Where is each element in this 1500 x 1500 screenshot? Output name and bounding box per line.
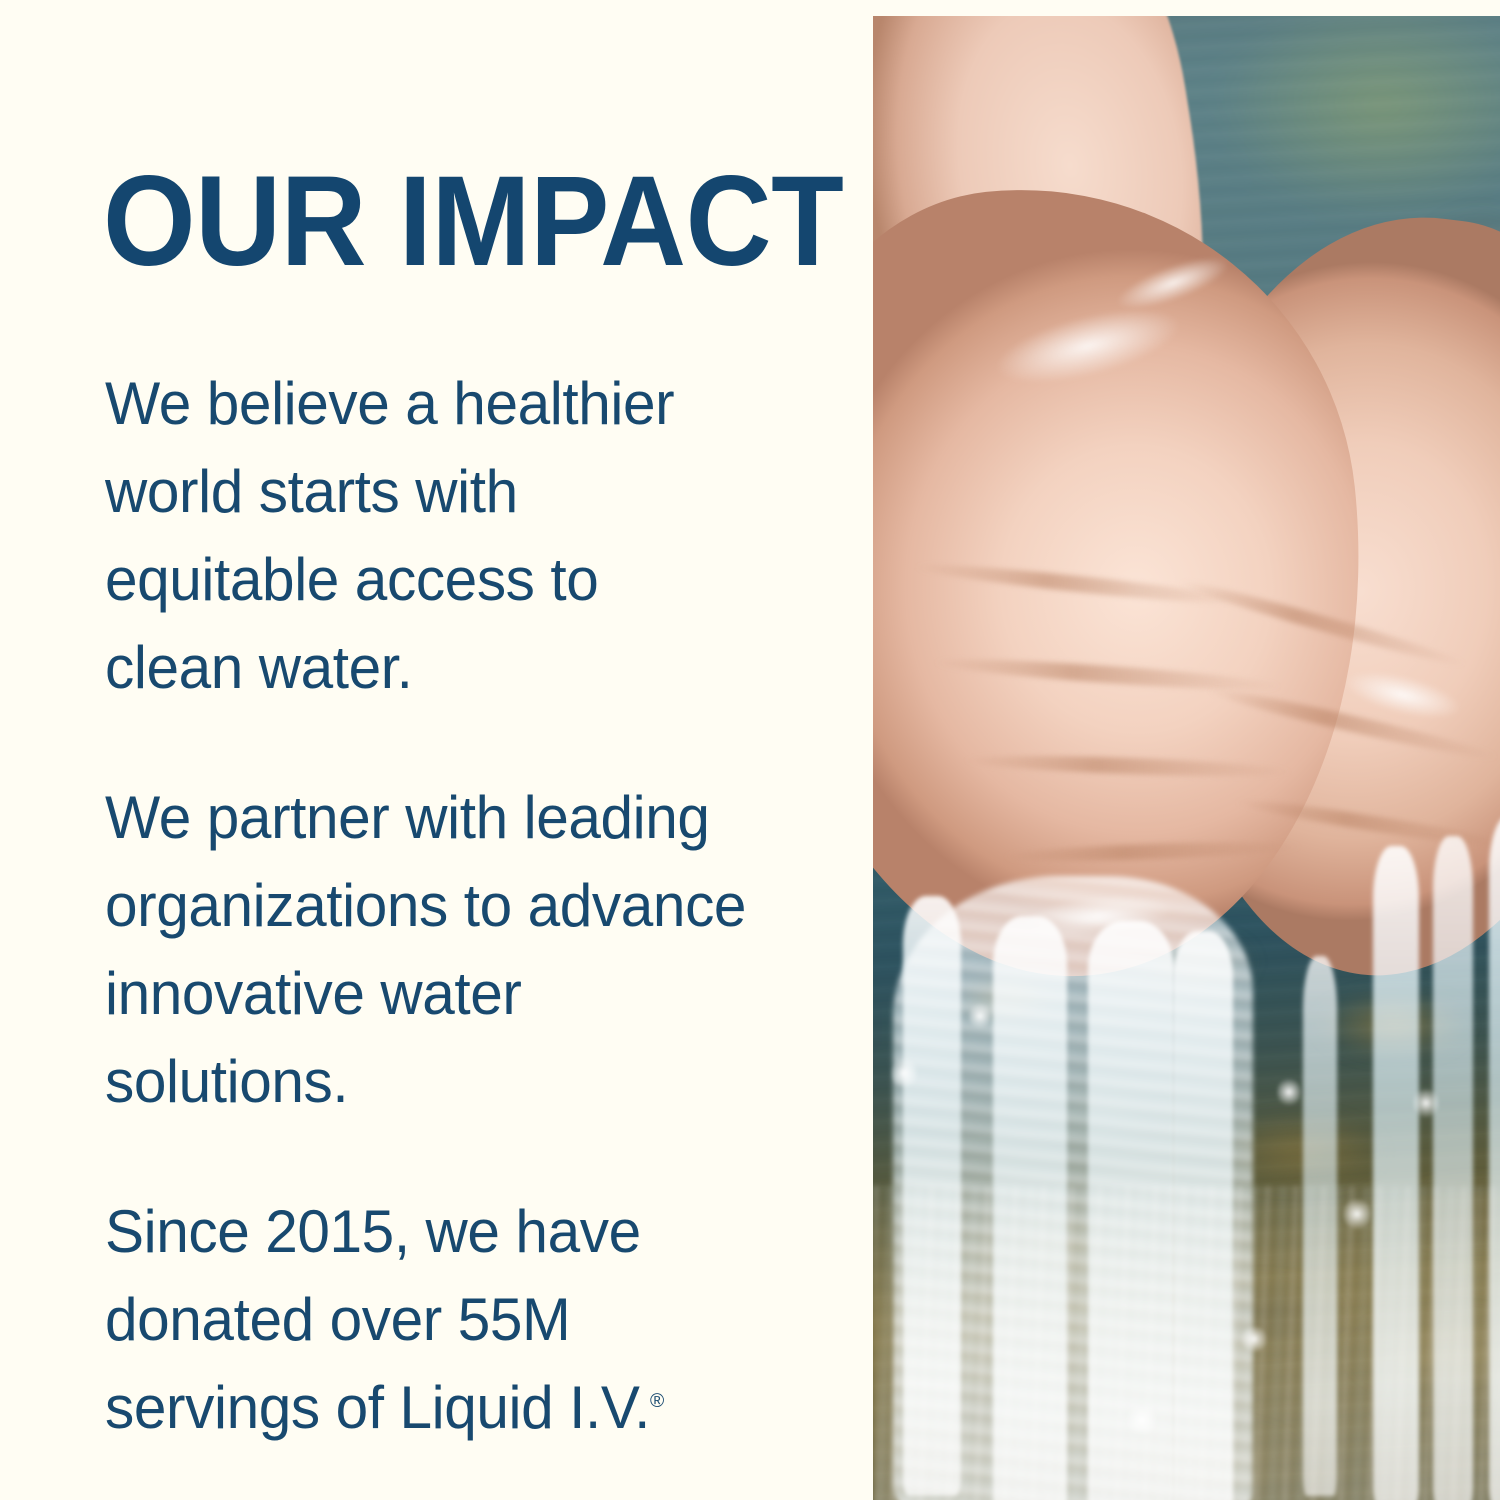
paragraph-partnership: We partner with leading organizations to…: [105, 774, 749, 1126]
photo-water-droplet: [1277, 1076, 1301, 1108]
body-copy: We believe a healthier world starts with…: [105, 360, 765, 1452]
photo-water-droplet: [1413, 1086, 1439, 1120]
impact-promo-canvas: OUR IMPACT We believe a healthier world …: [0, 0, 1500, 1500]
donations-sentence: Since 2015, we have donated over 55M ser…: [105, 1198, 650, 1441]
paragraph-donations: Since 2015, we have donated over 55M ser…: [105, 1188, 749, 1452]
photo-water-droplet: [969, 1001, 991, 1031]
paragraph-belief: We believe a healthier world starts with…: [105, 360, 749, 712]
text-panel: OUR IMPACT We believe a healthier world …: [0, 0, 833, 1500]
registered-trademark-icon: ®: [650, 1390, 664, 1412]
hands-water-photo: [873, 16, 1500, 1500]
photo-surface-foam: [873, 1186, 1500, 1500]
page-title: OUR IMPACT: [103, 158, 843, 286]
photo-water-droplet: [891, 1056, 917, 1090]
